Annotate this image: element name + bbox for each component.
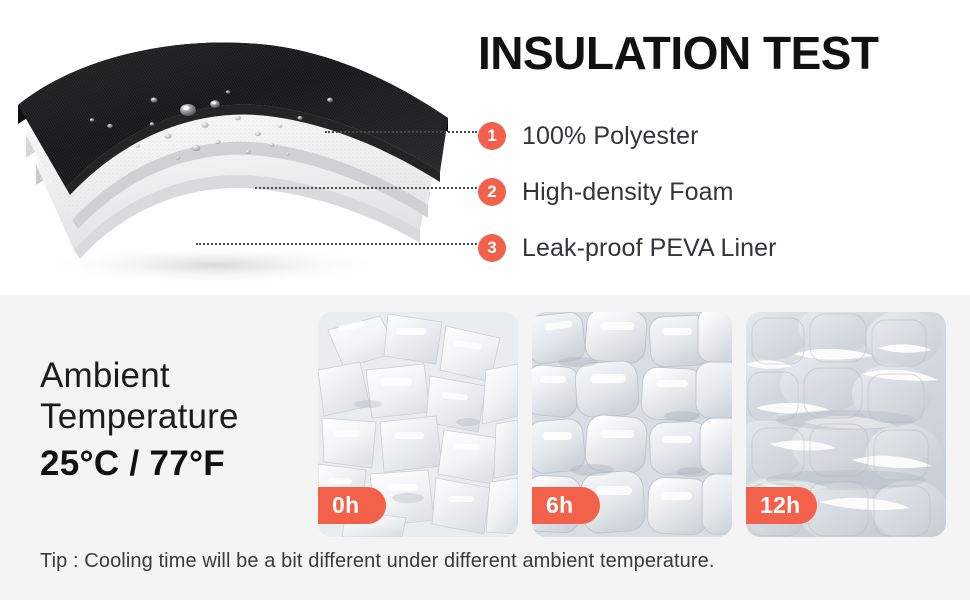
feature-label-2: High-density Foam <box>522 178 734 207</box>
feature-item-peva-liner: 3 Leak-proof PEVA Liner <box>478 220 948 276</box>
feature-number-badge-2: 2 <box>478 178 506 206</box>
feature-number-badge-1: 1 <box>478 122 506 150</box>
feature-item-polyester: 1 100% Polyester <box>478 108 948 164</box>
ambient-temperature-block: Ambient Temperature 25°C / 77°F <box>40 355 310 484</box>
ice-panel-6h: 6h <box>532 312 732 537</box>
insulation-test-section: INSULATION TEST 1 100% Polyester 2 High-… <box>0 0 970 295</box>
feature-label-1: 100% Polyester <box>522 122 699 151</box>
feature-label-3: Leak-proof PEVA Liner <box>522 234 777 263</box>
ice-panel-0h: 0h <box>318 312 518 537</box>
feature-item-foam: 2 High-density Foam <box>478 164 948 220</box>
time-badge-6h: 6h <box>532 487 600 524</box>
tip-text: Tip : Cooling time will be a bit differe… <box>40 550 715 573</box>
time-badge-12h: 12h <box>746 487 817 524</box>
cooling-time-section: Ambient Temperature 25°C / 77°F <box>0 295 970 600</box>
feature-list: 1 100% Polyester 2 High-density Foam 3 L… <box>478 108 948 276</box>
feature-number-badge-3: 3 <box>478 234 506 262</box>
page-title: INSULATION TEST <box>478 30 879 76</box>
ice-panel-12h: 12h <box>746 312 946 537</box>
leader-line-1 <box>325 131 477 133</box>
ambient-label-line-1: Ambient <box>40 355 310 396</box>
leader-line-3 <box>196 243 477 245</box>
three-layer-fabric-illustration <box>0 0 470 295</box>
ambient-temperature-value: 25°C / 77°F <box>40 444 310 484</box>
leader-line-2 <box>255 187 477 189</box>
ambient-label-line-2: Temperature <box>40 396 310 437</box>
time-badge-0h: 0h <box>318 487 386 524</box>
